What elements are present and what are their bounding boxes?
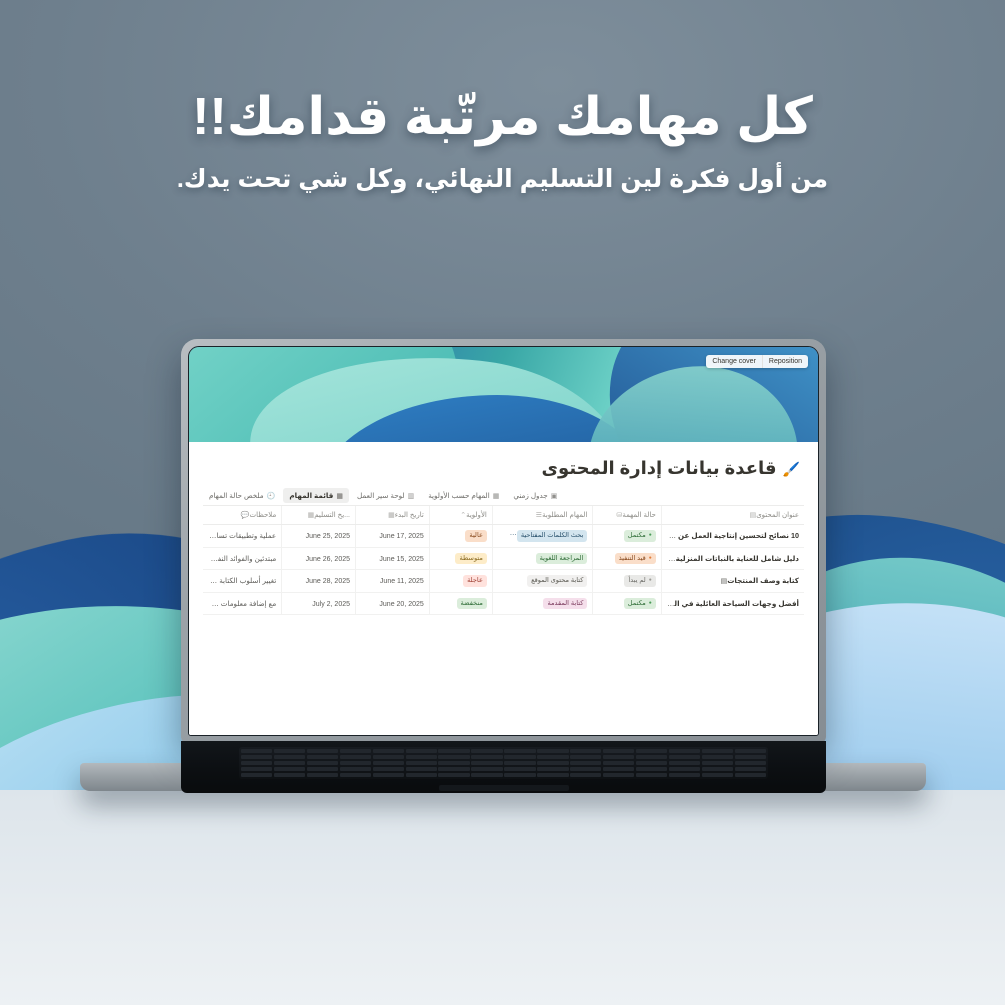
view-tab-0[interactable]: 🕘ملخص حالة المهام <box>203 488 281 503</box>
keyboard-key <box>504 755 535 759</box>
view-tabs[interactable]: 🕘ملخص حالة المهام▦قائمة المهام▥لوحة سير … <box>203 488 804 506</box>
promo-scene: كل مهامك مرتّبة قدامك!! من أول فكرة لين … <box>0 0 1005 1005</box>
table-row[interactable]: دليل شامل للعناية بالنباتات المنزلية▤قيد… <box>203 547 804 570</box>
laptop-lid: Change cover Reposition 🖌️ قاعدة بيانات … <box>181 339 826 743</box>
keyboard-key <box>636 761 667 765</box>
calendar-icon: ▦ <box>388 512 395 519</box>
cell-notes[interactable]: مع إضافة معلومات عن التكلفة التقريبية <box>203 592 282 615</box>
task-tag: كتابة المقدمة <box>543 598 587 610</box>
reposition-button[interactable]: Reposition <box>762 355 808 368</box>
comment-icon: 💬 <box>241 512 250 519</box>
priority-badge: عالية <box>465 530 486 542</box>
keyboard-key <box>603 761 634 765</box>
keyboard-key <box>406 761 437 765</box>
laptop-mockup: Change cover Reposition 🖌️ قاعدة بيانات … <box>181 339 826 793</box>
column-header-label: حالة المهمة <box>622 512 655 519</box>
column-header-label: عنوان المحتوى <box>756 512 799 519</box>
start-date: June 15, 2025 <box>379 556 423 563</box>
cell-due-date[interactable]: June 26, 2025 <box>282 547 356 570</box>
keyboard-key <box>241 761 272 765</box>
cell-notes[interactable]: تغيير أسلوب الكتابة عن السابق <box>203 570 282 593</box>
cell-due-date[interactable]: June 28, 2025 <box>282 570 356 593</box>
keyboard-key <box>537 773 568 777</box>
laptop-trackpad <box>439 785 569 791</box>
cell-start-date[interactable]: June 11, 2025 <box>356 570 430 593</box>
keyboard-key <box>274 749 305 753</box>
cell-status[interactable]: لم يبدأ <box>593 570 661 593</box>
keyboard-key <box>636 749 667 753</box>
table-icon: ▦ <box>336 492 343 500</box>
keyboard-key <box>274 761 305 765</box>
status-badge: مكتمل <box>624 530 656 542</box>
keyboard-key <box>241 767 272 771</box>
column-header-5[interactable]: ...يخ التسليم▦ <box>282 506 356 525</box>
keyboard-key <box>471 773 502 777</box>
keyboard-key <box>702 761 733 765</box>
content-title: أفضل وجهات السياحة العائلية في الصيف 202… <box>661 599 799 608</box>
page-title: قاعدة بيانات إدارة المحتوى <box>542 458 777 479</box>
keyboard-key <box>471 767 502 771</box>
page-cover-image: Change cover Reposition <box>189 347 818 442</box>
keyboard-key <box>669 755 700 759</box>
view-tab-4[interactable]: ▣جدول زمني <box>507 488 563 503</box>
doc-icon: ▤ <box>750 512 757 519</box>
cell-start-date[interactable]: June 20, 2025 <box>356 592 430 615</box>
keyboard-key <box>636 767 667 771</box>
status-badge: قيد التنفيذ <box>615 553 656 565</box>
priority-badge: متوسطة <box>455 553 486 565</box>
keyboard-key <box>702 749 733 753</box>
cell-priority[interactable]: متوسطة <box>429 547 492 570</box>
cell-required-tasks[interactable]: كتابة المقدمة <box>492 592 592 615</box>
keyboard-key <box>438 761 469 765</box>
keyboard-key <box>570 755 601 759</box>
column-header-1[interactable]: حالة المهمة⛁ <box>593 506 661 525</box>
priority-badge: منخفضة <box>457 598 487 610</box>
keyboard-key <box>537 755 568 759</box>
keyboard-key <box>702 767 733 771</box>
keyboard-key <box>537 767 568 771</box>
promo-subheadline: من أول فكرة لين التسليم النهائي، وكل شي … <box>0 164 1005 194</box>
calendar-icon: ▦ <box>308 512 315 519</box>
keyboard-key <box>570 761 601 765</box>
cell-priority[interactable]: عالية <box>429 525 492 548</box>
keyboard-key <box>570 749 601 753</box>
promo-headline: كل مهامك مرتّبة قدامك!! <box>0 88 1005 148</box>
note-text: مبتدئين والفوائد النفسية للنباتات المنزل… <box>203 554 276 563</box>
keyboard-key <box>274 767 305 771</box>
column-header-0[interactable]: عنوان المحتوى▤ <box>661 506 804 525</box>
keyboard-key <box>373 767 404 771</box>
cell-due-date[interactable]: July 2, 2025 <box>282 592 356 615</box>
keyboard-key <box>669 749 700 753</box>
due-date: June 26, 2025 <box>306 556 350 563</box>
cell-priority[interactable]: عاجلة <box>429 570 492 593</box>
keyboard-key <box>340 773 371 777</box>
keyboard-key <box>307 773 338 777</box>
promo-text-block: كل مهامك مرتّبة قدامك!! من أول فكرة لين … <box>0 88 1005 194</box>
cell-content-title[interactable]: كتابة وصف المنتجات▤ <box>661 570 804 593</box>
keyboard-row <box>241 761 766 765</box>
view-tab-3[interactable]: ▦المهام حسب الأولوية <box>422 488 505 503</box>
keyboard-key <box>471 761 502 765</box>
clock-icon: 🕘 <box>267 492 276 500</box>
keyboard-key <box>340 761 371 765</box>
keyboard-key <box>669 773 700 777</box>
table-row[interactable]: أفضل وجهات السياحة العائلية في الصيف 202… <box>203 592 804 615</box>
keyboard-key <box>504 749 535 753</box>
timeline-icon: ▣ <box>551 492 558 500</box>
keyboard-key <box>735 761 766 765</box>
cell-start-date[interactable]: June 17, 2025 <box>356 525 430 548</box>
multiselect-icon: ☰ <box>536 512 542 519</box>
table-header-row: عنوان المحتوى▤حالة المهمة⛁المهام المطلوب… <box>203 506 804 525</box>
keyboard-key <box>471 749 502 753</box>
cell-due-date[interactable]: June 25, 2025 <box>282 525 356 548</box>
keyboard-key <box>438 767 469 771</box>
keyboard-key <box>241 749 272 753</box>
doc-icon: ▤ <box>669 556 676 563</box>
table-row[interactable]: 10 نصائح لتحسين إنتاجية العمل عن بعد▤مكت… <box>203 525 804 548</box>
cover-actions[interactable]: Change cover Reposition <box>706 355 808 368</box>
table-header: عنوان المحتوى▤حالة المهمة⛁المهام المطلوب… <box>203 506 804 525</box>
keyboard-key <box>241 773 272 777</box>
keyboard-key <box>438 755 469 759</box>
keyboard-key <box>406 755 437 759</box>
status-badge: لم يبدأ <box>624 575 655 587</box>
note-text: مع إضافة معلومات عن التكلفة التقريبية <box>203 599 276 608</box>
column-header-label: المهام المطلوبة <box>542 512 587 519</box>
keyboard-key <box>373 749 404 753</box>
start-date: June 17, 2025 <box>379 533 423 540</box>
table-row[interactable]: كتابة وصف المنتجات▤لم يبدأكتابة محتوى ال… <box>203 570 804 593</box>
column-header-label: تاريخ البدء <box>395 512 424 519</box>
keyboard-key <box>570 773 601 777</box>
cell-priority[interactable]: منخفضة <box>429 592 492 615</box>
column-header-label: ملاحظات <box>250 512 277 519</box>
cell-start-date[interactable]: June 15, 2025 <box>356 547 430 570</box>
keyboard-key <box>636 773 667 777</box>
due-date: June 28, 2025 <box>306 578 350 585</box>
change-cover-button[interactable]: Change cover <box>706 355 762 368</box>
cell-content-title[interactable]: 10 نصائح لتحسين إنتاجية العمل عن بعد▤ <box>661 525 804 548</box>
keyboard-key <box>406 773 437 777</box>
column-header-label: الأولوية <box>466 512 487 519</box>
keyboard-key <box>438 773 469 777</box>
cell-notes[interactable]: عملية وتطبيقات تساعد على تنظيم الوقت <box>203 525 282 548</box>
keyboard-key <box>669 761 700 765</box>
keyboard-key <box>504 761 535 765</box>
laptop-keyboard-deck <box>181 741 826 793</box>
column-header-6[interactable]: ملاحظات💬 <box>203 506 282 525</box>
cell-status[interactable]: مكتمل <box>593 525 661 548</box>
keyboard-key <box>603 767 634 771</box>
cell-required-tasks[interactable]: المراجعة اللغوية <box>492 547 592 570</box>
priority-badge: عاجلة <box>463 575 487 587</box>
column-header-4[interactable]: تاريخ البدء▦ <box>356 506 430 525</box>
laptop-keyboard <box>239 747 768 779</box>
due-date: July 2, 2025 <box>312 601 350 608</box>
keyboard-row <box>241 767 766 771</box>
keyboard-key <box>603 773 634 777</box>
view-tab-2[interactable]: ▥لوحة سير العمل <box>351 488 420 503</box>
view-tab-label: ملخص حالة المهام <box>209 491 264 500</box>
keyboard-key <box>603 755 634 759</box>
view-tab-label: لوحة سير العمل <box>357 491 405 500</box>
due-date: June 25, 2025 <box>306 533 350 540</box>
keyboard-key <box>406 767 437 771</box>
keyboard-key <box>307 749 338 753</box>
cell-required-tasks[interactable]: كتابة محتوى الموقع <box>492 570 592 593</box>
doc-icon: ▤ <box>661 533 665 540</box>
keyboard-key <box>340 749 371 753</box>
keyboard-key <box>735 767 766 771</box>
keyboard-key <box>373 761 404 765</box>
start-date: June 20, 2025 <box>379 601 423 608</box>
cell-status[interactable]: مكتمل <box>593 592 661 615</box>
keyboard-row <box>241 773 766 777</box>
keyboard-key <box>504 767 535 771</box>
laptop-screen: Change cover Reposition 🖌️ قاعدة بيانات … <box>188 346 819 736</box>
keyboard-key <box>406 749 437 753</box>
keyboard-key <box>373 755 404 759</box>
page-body: 🖌️ قاعدة بيانات إدارة المحتوى 🕘ملخص حالة… <box>189 442 818 735</box>
keyboard-key <box>307 767 338 771</box>
note-text: تغيير أسلوب الكتابة عن السابق <box>203 576 276 585</box>
status-icon: ⛁ <box>616 512 622 519</box>
task-tag: بحث الكلمات المفتاحية <box>517 530 588 542</box>
keyboard-key <box>340 755 371 759</box>
table-body: 10 نصائح لتحسين إنتاجية العمل عن بعد▤مكت… <box>203 525 804 615</box>
content-title: كتابة وصف المنتجات <box>727 576 799 585</box>
status-badge: مكتمل <box>624 598 656 610</box>
keyboard-key <box>307 755 338 759</box>
note-text: عملية وتطبيقات تساعد على تنظيم الوقت <box>203 531 276 540</box>
cell-required-tasks[interactable]: بحث الكلمات المفتاحيةمخطط <box>492 525 592 548</box>
column-header-label: ...يخ التسليم <box>314 512 350 519</box>
view-tab-label: قائمة المهام <box>289 491 333 500</box>
keyboard-key <box>438 749 469 753</box>
keyboard-key <box>274 773 305 777</box>
content-title: 10 نصائح لتحسين إنتاجية العمل عن بعد <box>665 531 799 540</box>
cell-content-title[interactable]: أفضل وجهات السياحة العائلية في الصيف 202… <box>661 592 804 615</box>
keyboard-key <box>735 749 766 753</box>
keyboard-key <box>274 755 305 759</box>
keyboard-row <box>241 749 766 753</box>
keyboard-key <box>636 755 667 759</box>
keyboard-key <box>735 773 766 777</box>
keyboard-key <box>504 773 535 777</box>
view-tab-label: جدول زمني <box>513 491 547 500</box>
keyboard-key <box>307 761 338 765</box>
keyboard-key <box>702 755 733 759</box>
keyboard-key <box>537 761 568 765</box>
page-title-row: 🖌️ قاعدة بيانات إدارة المحتوى <box>203 442 804 479</box>
select-icon: ⌃ <box>460 512 466 519</box>
keyboard-key <box>570 767 601 771</box>
pen-brush-icon: 🖌️ <box>783 462 800 476</box>
keyboard-key <box>735 755 766 759</box>
keyboard-key <box>603 749 634 753</box>
cell-status[interactable]: قيد التنفيذ <box>593 547 661 570</box>
task-tag: كتابة محتوى الموقع <box>527 575 587 587</box>
view-tab-label: المهام حسب الأولوية <box>428 491 490 500</box>
keyboard-key <box>669 767 700 771</box>
task-tag: المراجعة اللغوية <box>536 553 588 565</box>
board-icon: ▥ <box>408 492 415 500</box>
keyboard-key <box>241 755 272 759</box>
content-title: دليل شامل للعناية بالنباتات المنزلية <box>668 554 799 563</box>
gallery-icon: ▦ <box>493 492 500 500</box>
tasks-database-table: عنوان المحتوى▤حالة المهمة⛁المهام المطلوب… <box>203 506 804 615</box>
cell-notes[interactable]: مبتدئين والفوائد النفسية للنباتات المنزل… <box>203 547 282 570</box>
background-shelf <box>0 790 1005 1005</box>
column-header-3[interactable]: الأولوية⌃ <box>429 506 492 525</box>
keyboard-key <box>702 773 733 777</box>
doc-icon: ▤ <box>721 578 728 585</box>
notion-app: Change cover Reposition 🖌️ قاعدة بيانات … <box>189 347 818 735</box>
keyboard-key <box>340 767 371 771</box>
keyboard-key <box>471 755 502 759</box>
cell-content-title[interactable]: دليل شامل للعناية بالنباتات المنزلية▤ <box>661 547 804 570</box>
start-date: June 11, 2025 <box>380 578 424 585</box>
keyboard-row <box>241 755 766 759</box>
keyboard-key <box>373 773 404 777</box>
view-tab-1[interactable]: ▦قائمة المهام <box>283 488 349 503</box>
column-header-2[interactable]: المهام المطلوبة☰ <box>492 506 592 525</box>
keyboard-key <box>537 749 568 753</box>
